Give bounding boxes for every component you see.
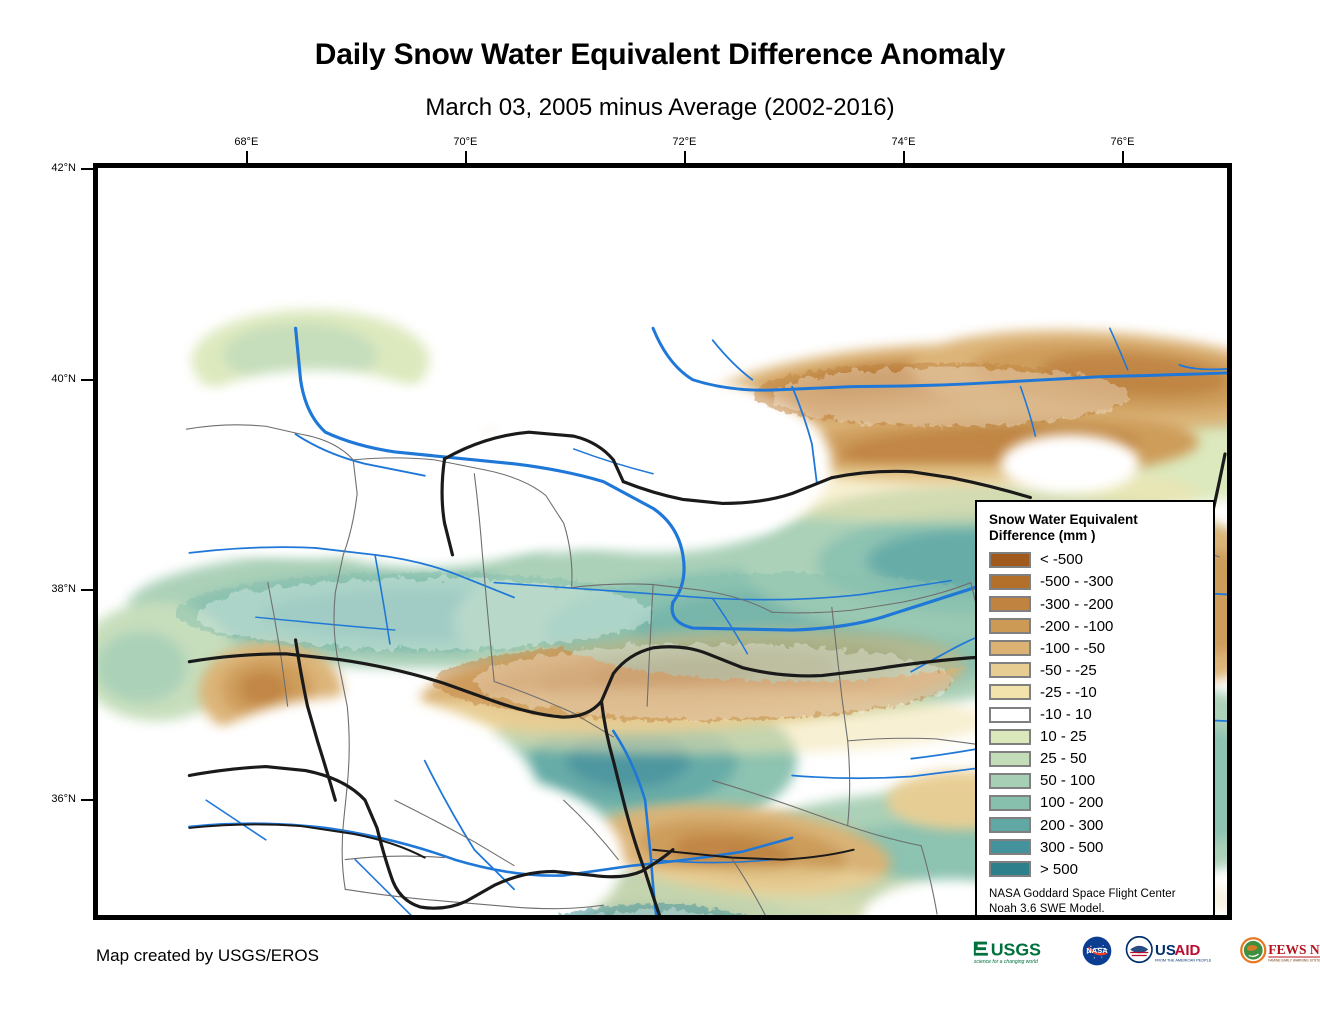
usaid-logo: US AID FROM THE AMERICAN PEOPLE	[1121, 936, 1228, 966]
svg-text:AID: AID	[1175, 942, 1201, 959]
svg-text:FROM THE AMERICAN PEOPLE: FROM THE AMERICAN PEOPLE	[1155, 959, 1212, 963]
legend-label: 10 - 25	[1040, 729, 1087, 744]
legend-swatch	[989, 861, 1031, 877]
legend-swatch	[989, 795, 1031, 811]
legend-swatch	[989, 817, 1031, 833]
lon-label: 70°E	[453, 136, 477, 148]
legend-swatch	[989, 640, 1031, 656]
legend-row: > 500	[989, 858, 1205, 880]
svg-text:science for a changing world: science for a changing world	[974, 959, 1038, 965]
svg-text:NASA: NASA	[1086, 946, 1108, 955]
legend-row: -50 - -25	[989, 659, 1205, 681]
legend-row: 100 - 200	[989, 792, 1205, 814]
legend-label: 100 - 200	[1040, 795, 1103, 810]
legend-label: < -500	[1040, 552, 1083, 567]
legend-label: -100 - -50	[1040, 641, 1105, 656]
legend-label: 50 - 100	[1040, 773, 1095, 788]
lat-tick	[81, 168, 95, 170]
legend-label: 200 - 300	[1040, 818, 1103, 833]
legend-swatch	[989, 707, 1031, 723]
legend-label: > 500	[1040, 862, 1078, 877]
legend-swatch	[989, 684, 1031, 700]
logo-bar: USGS science for a changing world NASA U…	[972, 934, 1320, 968]
map-credit: Map created by USGS/EROS	[96, 946, 319, 966]
fewsnet-logo: FEWS NET FAMINE EARLY WARNING SYSTEMS NE…	[1237, 936, 1320, 966]
legend-row: -25 - -10	[989, 681, 1205, 703]
legend-row: 25 - 50	[989, 748, 1205, 770]
legend-title-line2: Difference (mm )	[989, 528, 1205, 544]
legend-label: 25 - 50	[1040, 751, 1087, 766]
lon-tick	[246, 151, 248, 165]
legend-label: 300 - 500	[1040, 840, 1103, 855]
legend-swatch	[989, 574, 1031, 590]
legend-label: -50 - -25	[1040, 663, 1097, 678]
legend-row: -100 - -50	[989, 637, 1205, 659]
legend-source-note: NASA Goddard Space Flight Center Noah 3.…	[989, 887, 1205, 917]
legend-label: -10 - 10	[1040, 707, 1092, 722]
legend-class-list: < -500-500 - -300-300 - -200-200 - -100-…	[989, 549, 1205, 880]
legend-title-line1: Snow Water Equivalent	[989, 512, 1205, 528]
legend-source-line2: Noah 3.6 SWE Model.	[989, 902, 1205, 917]
svg-text:USGS: USGS	[991, 940, 1041, 960]
lon-label: 68°E	[234, 136, 258, 148]
legend-row: 300 - 500	[989, 836, 1205, 858]
lon-tick	[903, 151, 905, 165]
lat-label: 38°N	[51, 583, 76, 595]
svg-text:FEWS NET: FEWS NET	[1268, 942, 1320, 957]
page-title: Daily Snow Water Equivalent Difference A…	[0, 38, 1320, 72]
lat-label: 36°N	[51, 793, 76, 805]
legend-row: -300 - -200	[989, 593, 1205, 615]
lat-label: 42°N	[51, 162, 76, 174]
legend-swatch	[989, 552, 1031, 568]
lon-tick	[684, 151, 686, 165]
svg-text:FAMINE EARLY WARNING SYSTEMS N: FAMINE EARLY WARNING SYSTEMS NETWORK	[1268, 959, 1320, 963]
legend-row: 10 - 25	[989, 726, 1205, 748]
legend-row: -200 - -100	[989, 615, 1205, 637]
legend-row: < -500	[989, 549, 1205, 571]
lon-label: 72°E	[672, 136, 696, 148]
page-subtitle: March 03, 2005 minus Average (2002-2016)	[0, 94, 1320, 122]
lon-tick	[1122, 151, 1124, 165]
lat-tick	[81, 799, 95, 801]
legend-swatch	[989, 729, 1031, 745]
legend-label: -300 - -200	[1040, 597, 1113, 612]
legend-swatch	[989, 751, 1031, 767]
nasa-logo: NASA	[1082, 936, 1112, 966]
legend-swatch	[989, 839, 1031, 855]
legend-source-line1: NASA Goddard Space Flight Center	[989, 887, 1205, 902]
lat-tick	[81, 589, 95, 591]
legend-row: -10 - 10	[989, 704, 1205, 726]
lon-tick	[465, 151, 467, 165]
lon-label: 76°E	[1110, 136, 1134, 148]
legend-row: 200 - 300	[989, 814, 1205, 836]
legend-swatch	[989, 662, 1031, 678]
legend-row: 50 - 100	[989, 770, 1205, 792]
legend-label: -25 - -10	[1040, 685, 1097, 700]
lon-label: 74°E	[891, 136, 915, 148]
lat-tick	[81, 379, 95, 381]
lat-label: 40°N	[51, 373, 76, 385]
legend-label: -500 - -300	[1040, 574, 1113, 589]
legend-swatch	[989, 618, 1031, 634]
legend-panel: Snow Water Equivalent Difference (mm ) <…	[975, 500, 1215, 917]
svg-text:US: US	[1155, 942, 1176, 959]
legend-label: -200 - -100	[1040, 619, 1113, 634]
legend-swatch	[989, 596, 1031, 612]
usgs-logo: USGS science for a changing world	[972, 936, 1073, 966]
legend-row: -500 - -300	[989, 571, 1205, 593]
legend-title: Snow Water Equivalent Difference (mm )	[989, 512, 1205, 544]
legend-swatch	[989, 773, 1031, 789]
